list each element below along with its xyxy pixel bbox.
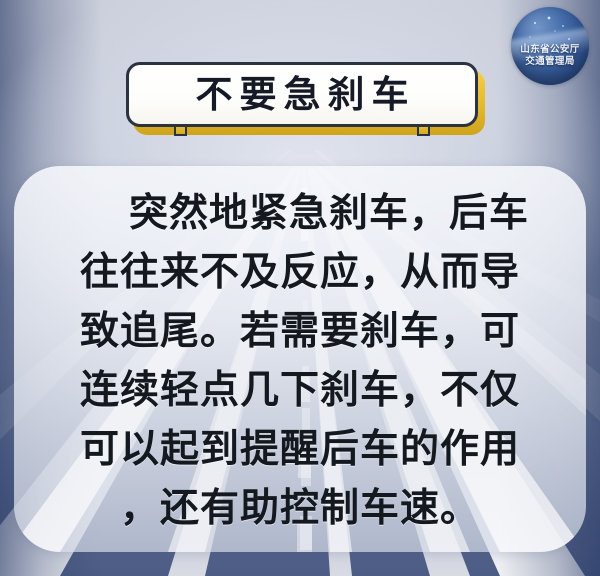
- body-line: 致追尾。若需要刹车，可: [28, 302, 572, 361]
- agency-badge: 山东省公安厅 交通管理局: [511, 7, 589, 85]
- badge-line-2: 交通管理局: [525, 56, 575, 68]
- body-line: 连续轻点几下刹车，不仅: [28, 361, 572, 420]
- body-line: ，还有助控制车速。: [28, 479, 572, 538]
- body-line: 可以起到提醒后车的作用: [28, 420, 572, 479]
- body-text: 突然地紧急刹车，后车 往往来不及反应，从而导 致追尾。若需要刹车，可 连续轻点几…: [14, 166, 586, 538]
- title-plaque: 不要急刹车: [126, 62, 478, 127]
- title-plaque-face: 不要急刹车: [126, 62, 478, 127]
- badge-line-1: 山东省公安厅: [520, 44, 579, 56]
- traffic-safety-poster: 山东省公安厅 交通管理局 不要急刹车: [0, 0, 600, 576]
- body-line: 往往来不及反应，从而导: [28, 243, 572, 302]
- body-line: 突然地紧急刹车，后车: [28, 184, 572, 243]
- body-panel: 突然地紧急刹车，后车 往往来不及反应，从而导 致追尾。若需要刹车，可 连续轻点几…: [14, 166, 586, 552]
- page-title: 不要急刹车: [189, 76, 416, 113]
